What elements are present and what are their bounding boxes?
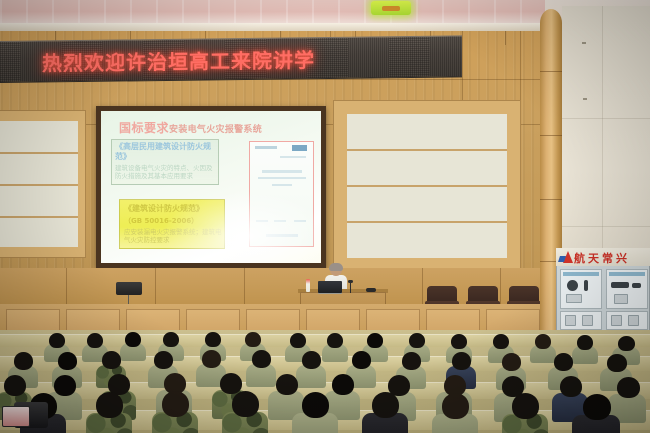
blue-box-line1: 《高层民用建筑设计防火规范》 [115, 142, 216, 162]
acoustic-panel-right [333, 100, 521, 272]
board-panel [560, 311, 602, 330]
board-header: 航天常兴 [556, 248, 650, 266]
slide-title-rest: 安装电气火灾报警系统 [169, 125, 262, 135]
projection-screen: 国标要求安装电气火灾报警系统 《高层民用建筑设计防火规范》 建筑设备电气火灾的特… [101, 111, 321, 263]
projector-hotspot [161, 191, 321, 263]
blue-box-line3: 建筑设备电气火灾的特点、火因及防火措施及其基本应用要求 [115, 164, 216, 180]
microphone-stand [350, 283, 351, 293]
microphone-head [348, 280, 353, 283]
exit-sign-icon [371, 1, 411, 15]
slide-title: 国标要求安装电气火灾报警系统 [119, 117, 262, 136]
board-panel [606, 311, 648, 330]
led-welcome-banner: 热烈欢迎许治垣高工来院讲学 [0, 35, 462, 83]
camcorder-icon [2, 398, 48, 431]
slide-title-highlight: 国标要求 [119, 121, 169, 135]
lecturer-hair [329, 263, 343, 271]
panel-inner [0, 121, 78, 247]
panel-inner [347, 114, 507, 258]
projection-screen-frame: 国标要求安装电气火灾报警系统 《高层民用建筑设计防火规范》 建筑设备电气火灾的特… [96, 106, 326, 268]
company-logo-icon [559, 251, 572, 263]
slide-blue-box: 《高层民用建筑设计防火规范》 建筑设备电气火灾的特点、火因及防火措施及其基本应用… [111, 139, 219, 185]
water-bottle [306, 279, 310, 292]
stage-speaker-box [116, 282, 142, 295]
desk-equipment [366, 288, 376, 292]
board-panel [606, 269, 648, 309]
acoustic-panel-left [0, 110, 86, 258]
banner-text: 热烈欢迎许治垣高工来院讲学 [42, 43, 442, 77]
board-brand-name: 航天常兴 [574, 250, 630, 266]
auditorium-photo: 热烈欢迎许治垣高工来院讲学 国标要求安装电气火灾报警系统 《高层民用建筑设计防火… [0, 0, 650, 433]
board-panel [560, 269, 602, 309]
laptop-icon [318, 281, 342, 293]
product-display-board: 航天常兴 [556, 248, 650, 332]
